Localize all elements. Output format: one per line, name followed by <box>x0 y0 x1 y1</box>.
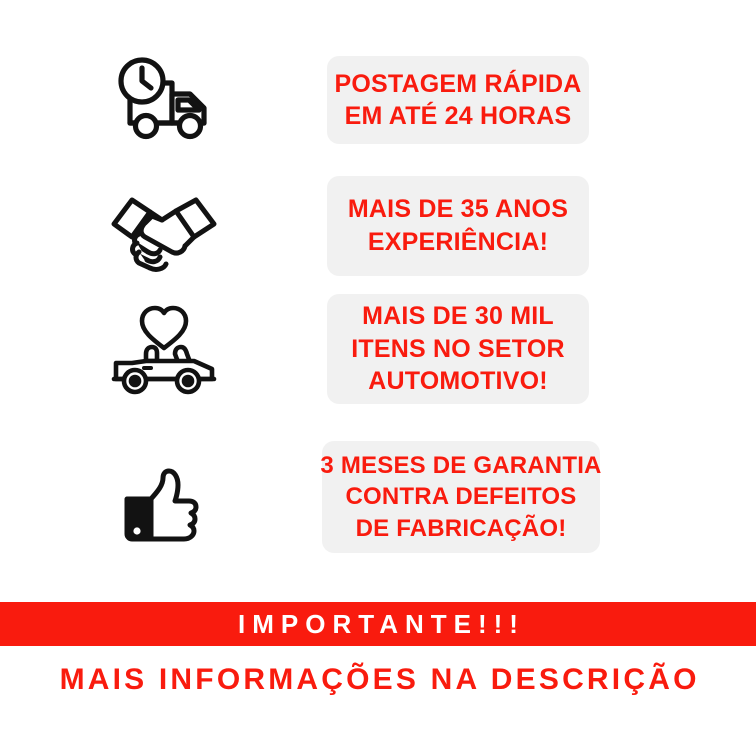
benefit-line: POSTAGEM RÁPIDA <box>335 68 582 101</box>
benefit-line: DE FABRICAÇÃO! <box>356 513 567 544</box>
benefit-callout: POSTAGEM RÁPIDA EM ATÉ 24 HORAS <box>327 56 589 144</box>
benefit-text-cell: MAIS DE 35 ANOS EXPERIÊNCIA! <box>327 176 756 276</box>
handshake-icon <box>106 180 222 272</box>
benefit-line: EXPERIÊNCIA! <box>368 226 548 259</box>
benefit-callout: 3 MESES DE GARANTIA CONTRA DEFEITOS DE F… <box>322 441 600 553</box>
benefit-line: ITENS NO SETOR <box>351 333 564 366</box>
benefit-text-cell: MAIS DE 30 MIL ITENS NO SETOR AUTOMOTIVO… <box>327 294 756 404</box>
benefit-text-cell: 3 MESES DE GARANTIA CONTRA DEFEITOS DE F… <box>327 441 756 553</box>
delivery-truck-clock-icon <box>108 50 220 150</box>
benefit-line: AUTOMOTIVO! <box>368 365 548 398</box>
benefit-icon-cell <box>0 180 327 272</box>
benefit-row: POSTAGEM RÁPIDA EM ATÉ 24 HORAS <box>0 45 756 155</box>
benefit-row: MAIS DE 30 MIL ITENS NO SETOR AUTOMOTIVO… <box>0 288 756 410</box>
benefit-line: 3 MESES DE GARANTIA <box>320 450 601 481</box>
benefit-row: 3 MESES DE GARANTIA CONTRA DEFEITOS DE F… <box>0 438 756 556</box>
benefit-line: MAIS DE 30 MIL <box>362 300 554 333</box>
car-heart-icon <box>102 297 226 401</box>
benefit-icon-cell <box>0 445 327 549</box>
benefit-callout: MAIS DE 30 MIL ITENS NO SETOR AUTOMOTIVO… <box>327 294 589 404</box>
benefit-row: MAIS DE 35 ANOS EXPERIÊNCIA! <box>0 168 756 283</box>
benefit-callout: MAIS DE 35 ANOS EXPERIÊNCIA! <box>327 176 589 276</box>
benefit-text-cell: POSTAGEM RÁPIDA EM ATÉ 24 HORAS <box>327 56 756 144</box>
benefits-list: POSTAGEM RÁPIDA EM ATÉ 24 HORAS <box>0 0 756 600</box>
important-banner: IMPORTANTE!!! <box>0 602 756 646</box>
benefit-icon-cell <box>0 50 327 150</box>
description-label: MAIS INFORMAÇÕES NA DESCRIÇÃO <box>56 663 699 697</box>
thumbs-up-icon <box>112 445 216 549</box>
benefit-line: MAIS DE 35 ANOS <box>348 193 568 226</box>
benefit-icon-cell <box>0 297 327 401</box>
important-banner-label: IMPORTANTE!!! <box>231 609 525 640</box>
benefit-line: CONTRA DEFEITOS <box>345 481 576 512</box>
benefit-line: EM ATÉ 24 HORAS <box>345 100 572 133</box>
description-line: MAIS INFORMAÇÕES NA DESCRIÇÃO <box>0 655 756 705</box>
